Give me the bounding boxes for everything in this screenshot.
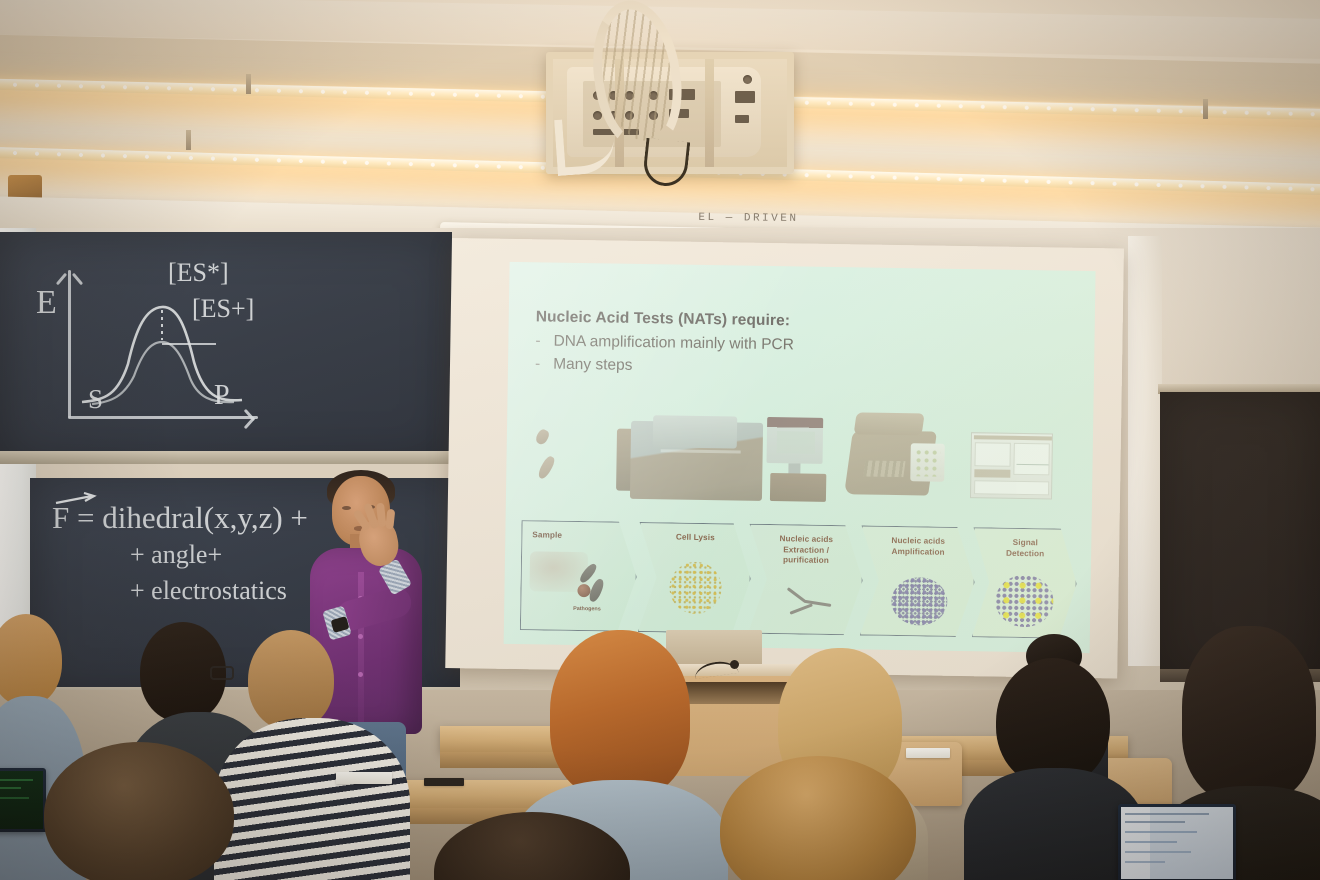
workflow-step-label: Nucleic acids Amplification (891, 536, 945, 558)
projection-screen: Nucleic Acid Tests (NATs) require: - DNA… (445, 238, 1124, 679)
slide-title: Nucleic Acid Tests (NATs) require: (536, 308, 791, 330)
projector-cage-strut (705, 59, 714, 167)
slide-bullet-2: - Many steps (535, 355, 633, 375)
phone (424, 778, 464, 786)
student-foreground-bald (22, 742, 270, 880)
workflow-step-label: Cell Lysis (676, 533, 715, 544)
signal-cluster-graphic (995, 575, 1054, 628)
student-foreground-center-dark (424, 812, 654, 880)
slide-bullet-1: - DNA amplification mainly with PCR (535, 332, 794, 354)
chalk-label-P: P (214, 380, 230, 412)
roller-handwritten-label: EL — DRIVEN (698, 212, 798, 225)
workflow-step-sample: Sample Pathogens (520, 520, 638, 632)
laptop-screen[interactable] (1121, 807, 1233, 879)
right-wall-column (1128, 236, 1162, 666)
workflow-step-extraction: Nucleic acids Extraction / purification (748, 524, 864, 636)
presentation-slide: Nucleic Acid Tests (NATs) require: - DNA… (504, 262, 1096, 653)
chalk-label-es-plus: [ES+] (192, 294, 254, 324)
ceiling-hanger (186, 130, 191, 150)
amplicon-cluster-graphic (891, 577, 948, 626)
student-foreground-right-blonde (700, 756, 950, 880)
upper-left-blackboard: E S P [ES*] [ES+] (0, 232, 452, 464)
laptop-right[interactable] (1118, 804, 1236, 880)
chalk-eq-line-2: + angle+ (130, 540, 222, 570)
thermal-cycler-photo (848, 420, 953, 502)
workflow-step-label: Nucleic acids Extraction / purification (779, 534, 833, 566)
chalk-label-S: S (88, 384, 103, 415)
pathogens-caption: Pathogens (573, 606, 601, 612)
ceiling-hanger (246, 74, 251, 94)
slide-workflow-diagram: Sample Pathogens Cell Lysis Nucleic acid… (520, 520, 1078, 639)
bullet-dash: - (535, 355, 540, 373)
sample-tubes-photo (532, 429, 563, 483)
workflow-step-label: Signal Detection (1006, 538, 1045, 560)
workflow-step-amplification: Nucleic acids Amplification (860, 525, 976, 637)
student-bun-dark (968, 640, 1136, 880)
chalk-label-es-star: [ES*] (168, 258, 229, 288)
ceiling-hanger (1203, 99, 1208, 119)
chalk-eq-line-1: F = dihedral(x,y,z) + (52, 500, 308, 536)
automated-analyzer-photo (630, 415, 831, 504)
slide-equipment-row (526, 407, 1073, 508)
lecture-hall-photo: EL — DRIVEN E S P [ES*] [ES+] F (0, 0, 1320, 880)
chalk-label-E: E (36, 284, 57, 322)
workflow-step-cell-lysis: Cell Lysis (638, 522, 752, 634)
lysis-fragments-graphic (669, 561, 722, 614)
workflow-step-signal-detection: Signal Detection (972, 527, 1078, 639)
bullet-text: DNA amplification mainly with PCR (553, 333, 794, 355)
dna-strands-graphic (785, 587, 834, 624)
bullet-dash: - (535, 332, 540, 350)
paper-sheet (336, 772, 392, 784)
analysis-software-photo (970, 424, 1055, 495)
bullet-text: Many steps (553, 356, 633, 375)
workflow-step-label: Sample (532, 530, 562, 541)
microphone-head (730, 660, 739, 669)
chalk-eq-line-3: + electrostatics (130, 576, 287, 606)
